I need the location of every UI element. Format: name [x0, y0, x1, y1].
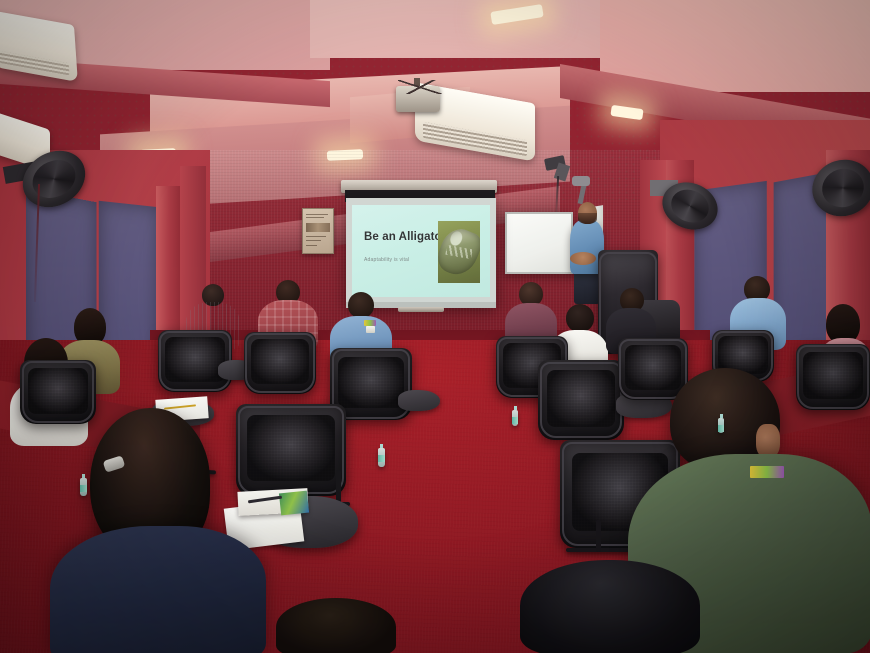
slide-image-alligator: [438, 221, 480, 283]
water-bottle: [378, 448, 385, 467]
chair-leg: [596, 520, 601, 552]
screen-pull-handle[interactable]: [398, 307, 444, 312]
framed-certificate: [302, 208, 334, 254]
brochure: [279, 491, 309, 516]
projector-cables: [398, 80, 442, 94]
badge: [366, 326, 375, 333]
water-bottle: [512, 410, 518, 426]
attendee-navy-woman-front: [40, 408, 270, 653]
chair[interactable]: [244, 332, 316, 394]
attendee-dark-head-front: [276, 598, 396, 653]
camera-icon: [572, 176, 590, 186]
presenter-hands: [570, 252, 596, 265]
chair[interactable]: [538, 360, 624, 440]
presentation-slide: Be an Alligator Adaptability is vital: [352, 205, 490, 297]
chair[interactable]: [158, 330, 232, 392]
tablet-arm-desk: [398, 390, 440, 411]
training-room-photo: Be an Alligator Adaptability is vital: [0, 0, 870, 653]
water-bottle: [80, 478, 87, 496]
slide-subtitle: Adaptability is vital: [364, 257, 409, 263]
whiteboard: [505, 212, 573, 274]
lanyard: [750, 466, 784, 478]
foreground-chair-top[interactable]: [520, 560, 700, 653]
water-bottle: [718, 418, 724, 433]
ear: [756, 424, 780, 458]
slide-title: Be an Alligator: [364, 231, 446, 243]
presenter-beard: [578, 213, 597, 224]
